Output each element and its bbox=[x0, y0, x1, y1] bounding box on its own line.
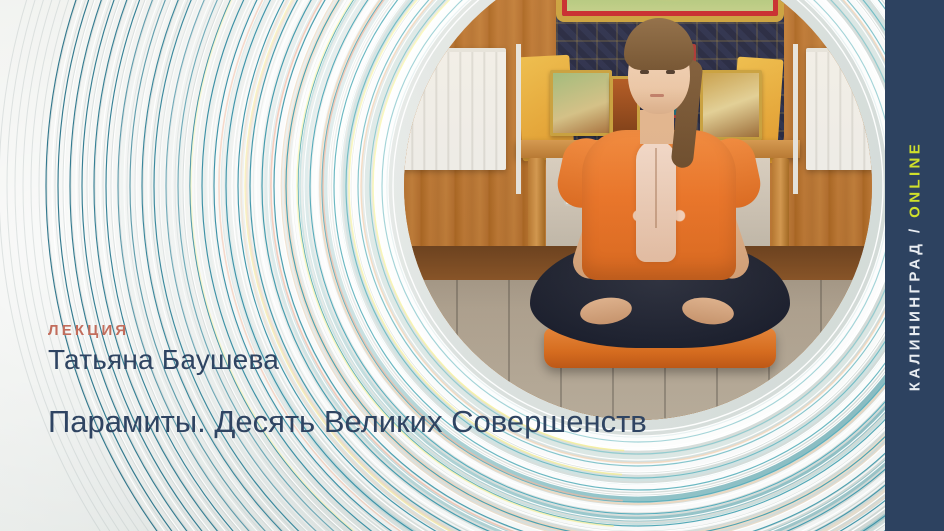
sidebar-separator: / bbox=[906, 225, 923, 233]
speaker-photo bbox=[404, 0, 872, 420]
photo-color-grade bbox=[404, 0, 872, 420]
right-sidebar: КАЛИНИНГРАД / ONLINE bbox=[885, 0, 944, 531]
sidebar-city: КАЛИНИНГРАД bbox=[906, 240, 923, 391]
page-title: Парамиты. Десять Великих Совершенств bbox=[48, 404, 647, 440]
lecture-kicker: ЛЕКЦИЯ bbox=[48, 322, 129, 339]
sidebar-mode: ONLINE bbox=[906, 140, 923, 217]
lecture-poster: ЛЕКЦИЯ Татьяна Баушева Парамиты. Десять … bbox=[0, 0, 944, 531]
sidebar-location-label: КАЛИНИНГРАД / ONLINE bbox=[906, 140, 923, 390]
photo-scene bbox=[404, 0, 872, 420]
speaker-name: Татьяна Баушева bbox=[48, 344, 279, 376]
